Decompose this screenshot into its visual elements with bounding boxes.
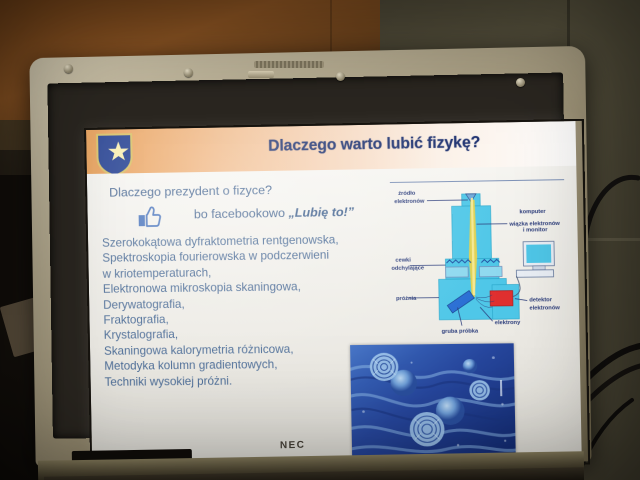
label-detector-line1: detektor <box>529 297 553 303</box>
label-sample: gruba próbka <box>442 328 480 335</box>
photo-scene: Dlaczego warto lubić fizykę? Dlaczego pr… <box>0 0 640 480</box>
slide-title: Dlaczego warto lubić fizykę? <box>207 133 543 157</box>
laptop: Dlaczego warto lubić fizykę? Dlaczego pr… <box>30 52 590 480</box>
like-row: bo facebookowo „Lubię to!” <box>109 201 382 229</box>
label-detector-line2: elektronów <box>529 305 560 311</box>
lid-latch[interactable] <box>248 71 274 78</box>
scanning-electron-microscope-diagram: źródło elektronów wiązka elektronów komp… <box>388 182 571 336</box>
brand-logo: NEC <box>280 440 306 451</box>
label-source-line2: elektronów <box>394 199 425 206</box>
bezel-bumper <box>336 72 345 81</box>
label-electrons: elektrony <box>495 320 522 326</box>
bezel-vent <box>254 61 324 68</box>
label-source-line1: źródło <box>398 191 416 197</box>
bezel-bumper <box>516 78 525 87</box>
bezel-bumper <box>64 64 73 73</box>
label-coils-line1: cewki <box>395 257 411 263</box>
label-vacuum: próżnia <box>396 296 417 302</box>
facebook-thumbs-up-icon <box>137 206 161 228</box>
shield-star-crescent-icon <box>94 131 135 178</box>
slide-body: Dlaczego prezydent o fizyce? bo facebook… <box>87 166 582 460</box>
label-coils-line2: odchylające <box>391 265 424 272</box>
list-item: Techniki wysokiej próżni. <box>104 372 387 390</box>
bezel-bumper <box>184 68 193 77</box>
answer-quote: „Lubię to!” <box>288 205 354 220</box>
laptop-screen[interactable]: Dlaczego warto lubić fizykę? Dlaczego pr… <box>86 121 582 460</box>
methods-list: Szerokokątowa dyfraktometria rentgenowsk… <box>102 232 388 390</box>
answer-prefix: bo facebookowo <box>194 206 289 222</box>
label-computer-line2b: i monitor <box>523 227 549 233</box>
slide-answer: bo facebookowo „Lubię to!” <box>194 205 355 222</box>
sem-micrograph-cells <box>350 343 516 458</box>
slide-question: Dlaczego prezydent o fizyce? <box>109 183 272 200</box>
label-computer-line1: komputer <box>519 209 546 216</box>
